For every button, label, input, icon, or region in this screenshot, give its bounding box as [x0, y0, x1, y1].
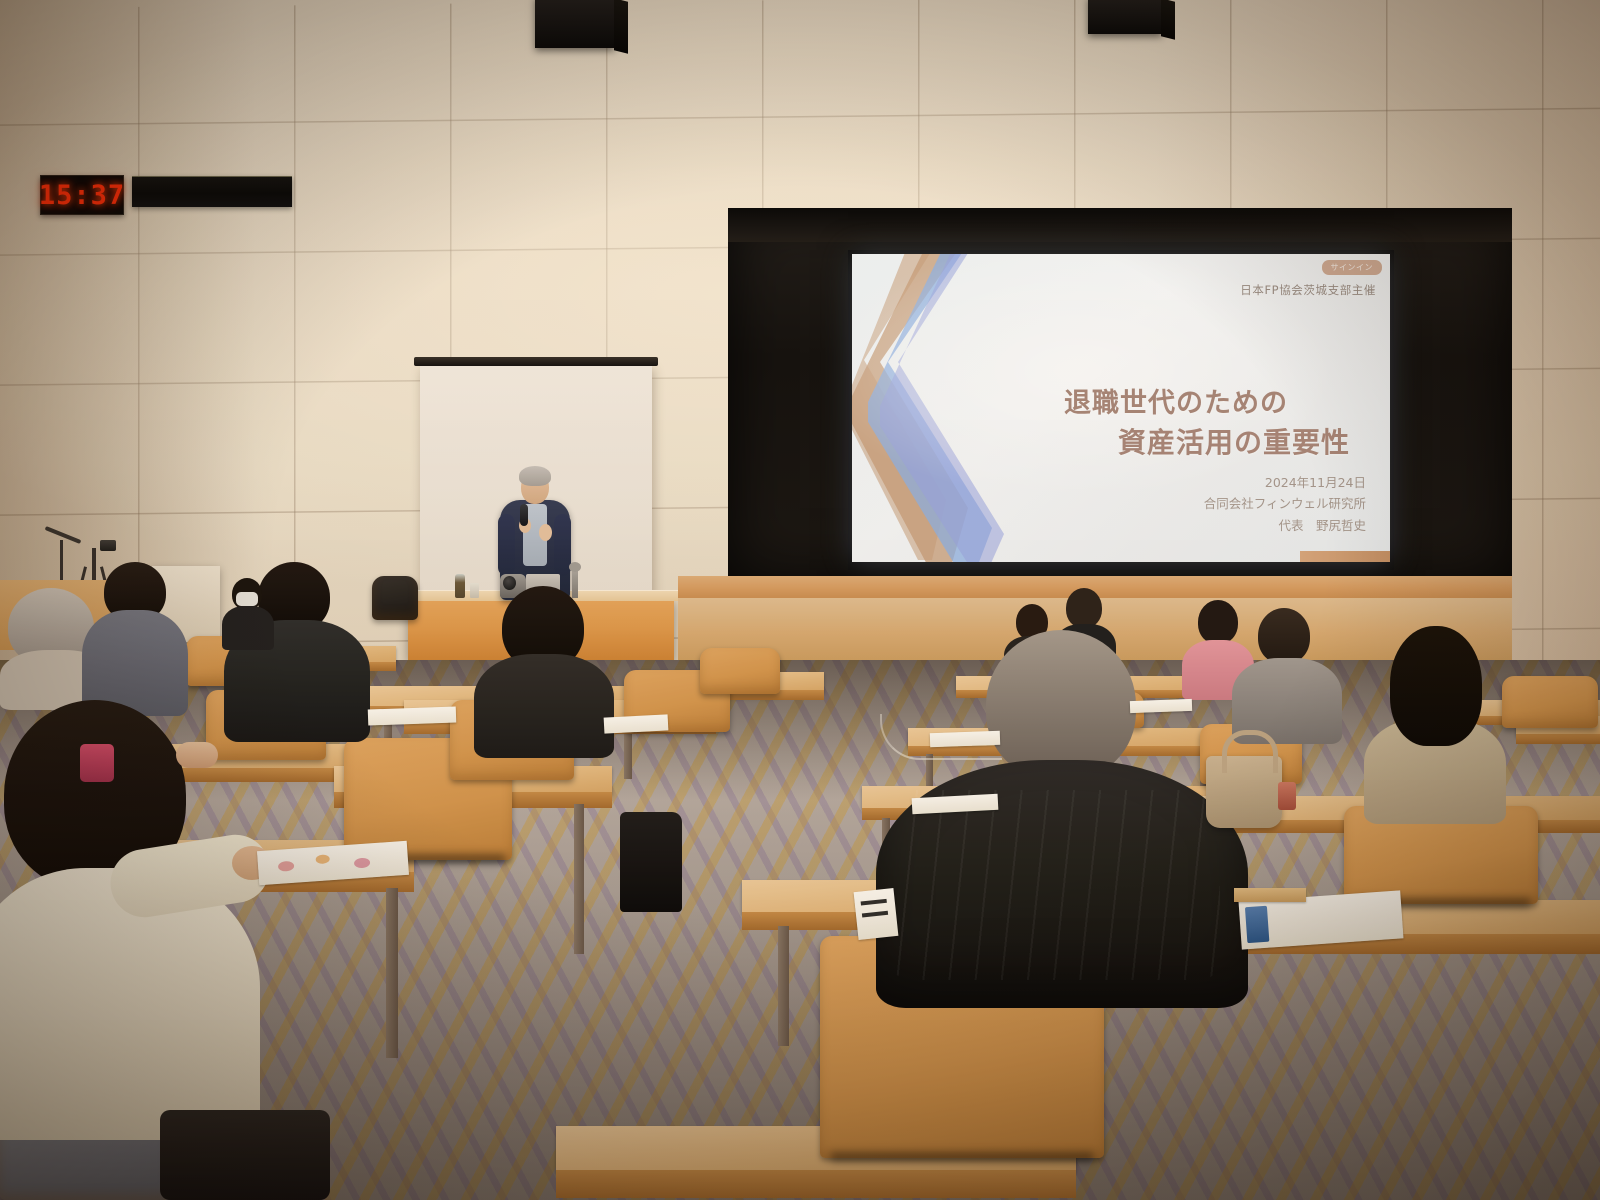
chair-right-b [1502, 676, 1598, 728]
attendee-tan-coat [1364, 626, 1506, 816]
handout-front-right [854, 888, 899, 940]
attendee-grey-hoodie [82, 562, 188, 710]
presenter-hand-right [539, 524, 552, 541]
bag-under-desk-left [620, 812, 682, 912]
ceiling-speaker-right-icon [1088, 0, 1162, 34]
presenter-hair [519, 466, 551, 486]
slide-title: 退職世代のための 資産活用の重要性 [1064, 385, 1350, 463]
water-bottle-icon [455, 574, 465, 598]
seminar-hall-photo: 15:37 サインイン 日本FP協会茨城支部主催 [0, 0, 1600, 1200]
handout-back-right-2 [1130, 699, 1192, 713]
slide-meta: 2024年11月24日 合同会社フィンウェル研究所 代表 野尻哲史 [1204, 472, 1366, 537]
chair-stage-side [372, 576, 418, 620]
attendee-masked [222, 578, 274, 644]
floor-cable [880, 714, 1002, 760]
roll-down-screen-bar [414, 357, 658, 366]
slide-corner-accent [1300, 551, 1390, 562]
projection-screen-frame: サインイン 日本FP協会茨城支部主催 退職世代のための 資産活用の重要性 202… [848, 250, 1394, 570]
slide-title-line-1: 退職世代のための [1064, 385, 1288, 423]
ceiling-speaker-left-icon [535, 0, 615, 48]
slide-signin-badge: サインイン [1322, 260, 1383, 275]
desk-microphone-head-icon [569, 562, 581, 572]
handout-mid-desk [604, 714, 669, 733]
clock-time-display: 15:37 [39, 182, 125, 209]
projection-screen: サインイン 日本FP協会茨城支部主催 退職世代のための 資産活用の重要性 202… [852, 254, 1390, 562]
blank-display-panel [132, 176, 292, 207]
wall-clock: 15:37 [40, 175, 124, 215]
presenter-arm-left [498, 514, 515, 576]
red-item-icon [1278, 782, 1296, 810]
face-mask-icon [236, 592, 258, 606]
microphone-icon [520, 504, 528, 526]
puffer-jacket-quilting [890, 790, 1220, 980]
bag-under-desk-front [160, 1110, 330, 1200]
slide-host-line: 日本FP協会茨城支部主催 [1240, 282, 1376, 298]
attendee-mid-row-woman [474, 586, 614, 746]
slide-presenter: 代表 野尻哲史 [1204, 515, 1366, 537]
pink-pouch-icon [80, 744, 114, 782]
camera-head-icon [100, 540, 116, 551]
slide-organization: 合同会社フィンウェル研究所 [1204, 493, 1366, 515]
attendee-hand-on-desk [176, 742, 218, 768]
beige-handbag-strap-icon [1222, 730, 1278, 773]
slide-title-line-2: 資産活用の重要性 [1064, 423, 1350, 463]
presentation-slide: サインイン 日本FP協会茨城支部主催 退職世代のための 資産活用の重要性 202… [852, 254, 1390, 562]
attendee-grey-sweater [1232, 608, 1342, 738]
handout-mid-desk-2 [368, 706, 457, 725]
clipboard-right-desk [1234, 888, 1306, 902]
slide-date: 2024年11月24日 [1204, 472, 1366, 494]
chair-left-f [700, 648, 780, 694]
